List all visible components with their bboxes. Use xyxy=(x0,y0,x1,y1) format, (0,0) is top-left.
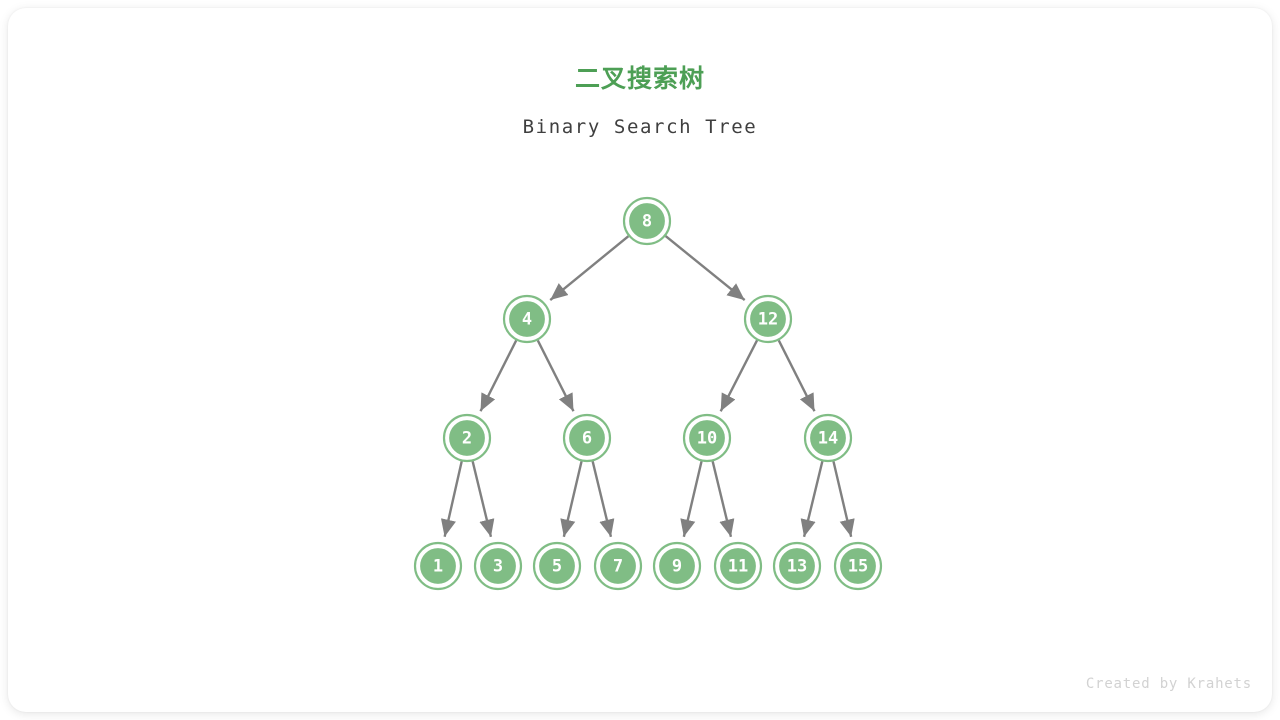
tree-edge xyxy=(538,340,574,411)
tree-node[interactable]: 9 xyxy=(654,543,700,589)
tree-node[interactable]: 15 xyxy=(835,543,881,589)
tree-edge xyxy=(550,236,628,300)
diagram-card: 二叉搜索树 Binary Search Tree 841226101413579… xyxy=(8,8,1272,712)
tree-node[interactable]: 7 xyxy=(595,543,641,589)
tree-node-label: 15 xyxy=(848,557,868,577)
tree-node[interactable]: 10 xyxy=(684,415,730,461)
tree-node[interactable]: 13 xyxy=(774,543,820,589)
tree-nodes: 841226101413579111315 xyxy=(415,198,881,589)
tree-node-label: 10 xyxy=(697,429,717,449)
tree-node[interactable]: 12 xyxy=(745,296,791,342)
tree-node-label: 3 xyxy=(493,557,503,577)
tree-edge xyxy=(804,461,822,537)
tree-edge xyxy=(684,461,702,536)
tree-node-label: 14 xyxy=(818,429,838,449)
tree-edge xyxy=(564,461,582,536)
tree-node-label: 1 xyxy=(433,557,443,577)
tree-edge xyxy=(779,340,815,411)
tree-node-label: 12 xyxy=(758,310,778,330)
tree-edge xyxy=(713,461,731,537)
tree-node[interactable]: 3 xyxy=(475,543,521,589)
tree-node-label: 13 xyxy=(787,557,807,577)
tree-node[interactable]: 8 xyxy=(624,198,670,244)
tree-edge xyxy=(833,461,851,536)
tree-node-label: 11 xyxy=(728,557,748,577)
tree-node[interactable]: 14 xyxy=(805,415,851,461)
tree-node[interactable]: 2 xyxy=(444,415,490,461)
tree-edge xyxy=(481,340,517,411)
tree-node[interactable]: 4 xyxy=(504,296,550,342)
tree-edge xyxy=(666,236,745,300)
tree-node-label: 4 xyxy=(522,310,532,330)
tree-edge xyxy=(721,340,757,411)
tree-edge xyxy=(473,461,491,537)
tree-node[interactable]: 11 xyxy=(715,543,761,589)
binary-search-tree-diagram: 841226101413579111315 xyxy=(8,8,1272,712)
tree-node[interactable]: 6 xyxy=(564,415,610,461)
tree-node-label: 8 xyxy=(642,212,652,232)
tree-node-label: 9 xyxy=(672,557,682,577)
tree-node-label: 7 xyxy=(613,557,623,577)
credit-label: Created by Krahets xyxy=(1086,676,1252,692)
tree-node-label: 6 xyxy=(582,429,592,449)
tree-node[interactable]: 5 xyxy=(534,543,580,589)
tree-edges xyxy=(445,236,852,537)
tree-edge xyxy=(593,461,611,537)
tree-edge xyxy=(445,461,462,536)
tree-node-label: 2 xyxy=(462,429,472,449)
tree-node[interactable]: 1 xyxy=(415,543,461,589)
tree-node-label: 5 xyxy=(552,557,562,577)
screenshot-root: 二叉搜索树 Binary Search Tree 841226101413579… xyxy=(0,0,1280,720)
